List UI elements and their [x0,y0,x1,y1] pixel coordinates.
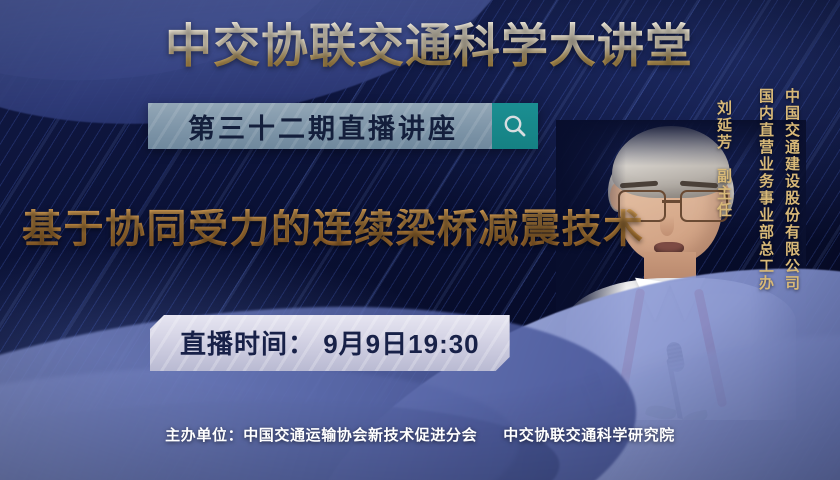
search-icon[interactable] [492,103,538,149]
session-label: 第三十二期直播讲座 [148,103,492,149]
organizer-secondary: 中交协联交通科学研究院 [503,427,675,444]
organizer-primary: 中国交通运输协会新技术促进分会 [243,427,477,444]
organizer-footer: 主办单位：中国交通运输协会新技术促进分会中交协联交通科学研究院 [0,424,840,445]
topic-headline: 基于协同受力的连续梁桥减震技术 [22,209,645,249]
speaker-department: 国内直营业务事业部总工办 [756,88,774,292]
broadcast-time-badge: 直播时间： 9月9日19:30 [150,315,510,371]
organizer-prefix: 主办单位： [165,427,243,444]
speaker-organization: 中国交通建设股份有限公司 [782,88,800,292]
speaker-name-and-title: 刘延芳 副主任 [714,100,732,219]
live-broadcast-poster: 中交协联交通科学大讲堂 第三十二期直播讲座 基于协同受力的连续梁桥减震技术 直播… [0,0,840,480]
session-bar[interactable]: 第三十二期直播讲座 [148,103,538,149]
page-title: 中交协联交通科学大讲堂 [0,22,840,69]
